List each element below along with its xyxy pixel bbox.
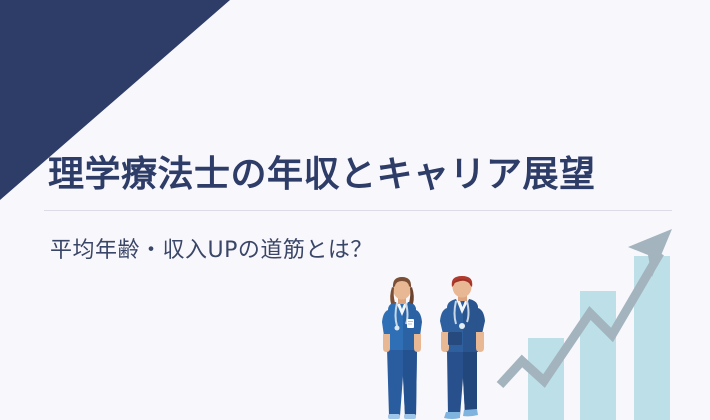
growth-bar-chart — [500, 215, 710, 420]
page-subtitle: 平均年齢・収入UPの道筋とは？ — [50, 232, 373, 264]
page-title: 理学療法士の年収とキャリア展望 — [48, 152, 596, 197]
two-healthcare-workers-illustration — [372, 276, 502, 420]
banner-root: 理学療法士の年収とキャリア展望 平均年齢・収入UPの道筋とは？ — [0, 0, 710, 420]
male-therapist-figure — [440, 276, 485, 419]
title-divider — [44, 210, 672, 211]
upward-trend-arrow-icon — [500, 215, 710, 420]
female-therapist-figure — [382, 277, 422, 419]
